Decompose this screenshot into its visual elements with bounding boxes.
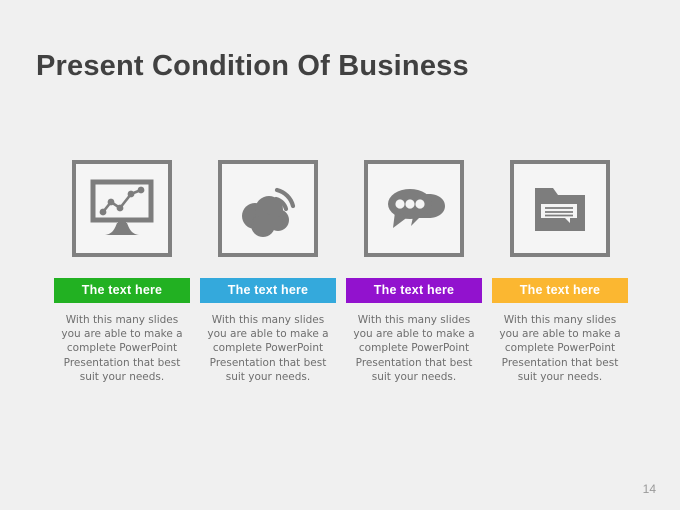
feature-columns: The text here With this many slides you … — [54, 160, 628, 384]
cloud-wifi-icon — [233, 178, 303, 240]
label-bar-text: The text here — [374, 284, 454, 297]
label-bar-text: The text here — [82, 284, 162, 297]
column-body-text: With this many slides you are able to ma… — [348, 313, 480, 384]
monitor-chart-icon — [87, 178, 157, 240]
label-bar-1[interactable]: The text here — [54, 278, 190, 303]
page-number: 14 — [643, 482, 656, 496]
icon-frame-4 — [510, 160, 610, 257]
folder-document-icon — [525, 178, 595, 240]
column-body-text: With this many slides you are able to ma… — [56, 313, 188, 384]
label-bar-text: The text here — [228, 284, 308, 297]
column-body-text: With this many slides you are able to ma… — [202, 313, 334, 384]
label-bar-2[interactable]: The text here — [200, 278, 336, 303]
feature-column: The text here With this many slides you … — [54, 160, 190, 384]
feature-column: The text here With this many slides you … — [200, 160, 336, 384]
slide-canvas: Present Condition Of Business The text — [0, 0, 680, 510]
label-bar-text: The text here — [520, 284, 600, 297]
feature-column: The text here With this many slides you … — [492, 160, 628, 384]
label-bar-4[interactable]: The text here — [492, 278, 628, 303]
feature-column: The text here With this many slides you … — [346, 160, 482, 384]
icon-frame-3 — [364, 160, 464, 257]
chat-bubbles-icon — [379, 178, 449, 240]
label-bar-3[interactable]: The text here — [346, 278, 482, 303]
icon-frame-1 — [72, 160, 172, 257]
page-title: Present Condition Of Business — [36, 50, 469, 83]
column-body-text: With this many slides you are able to ma… — [494, 313, 626, 384]
icon-frame-2 — [218, 160, 318, 257]
